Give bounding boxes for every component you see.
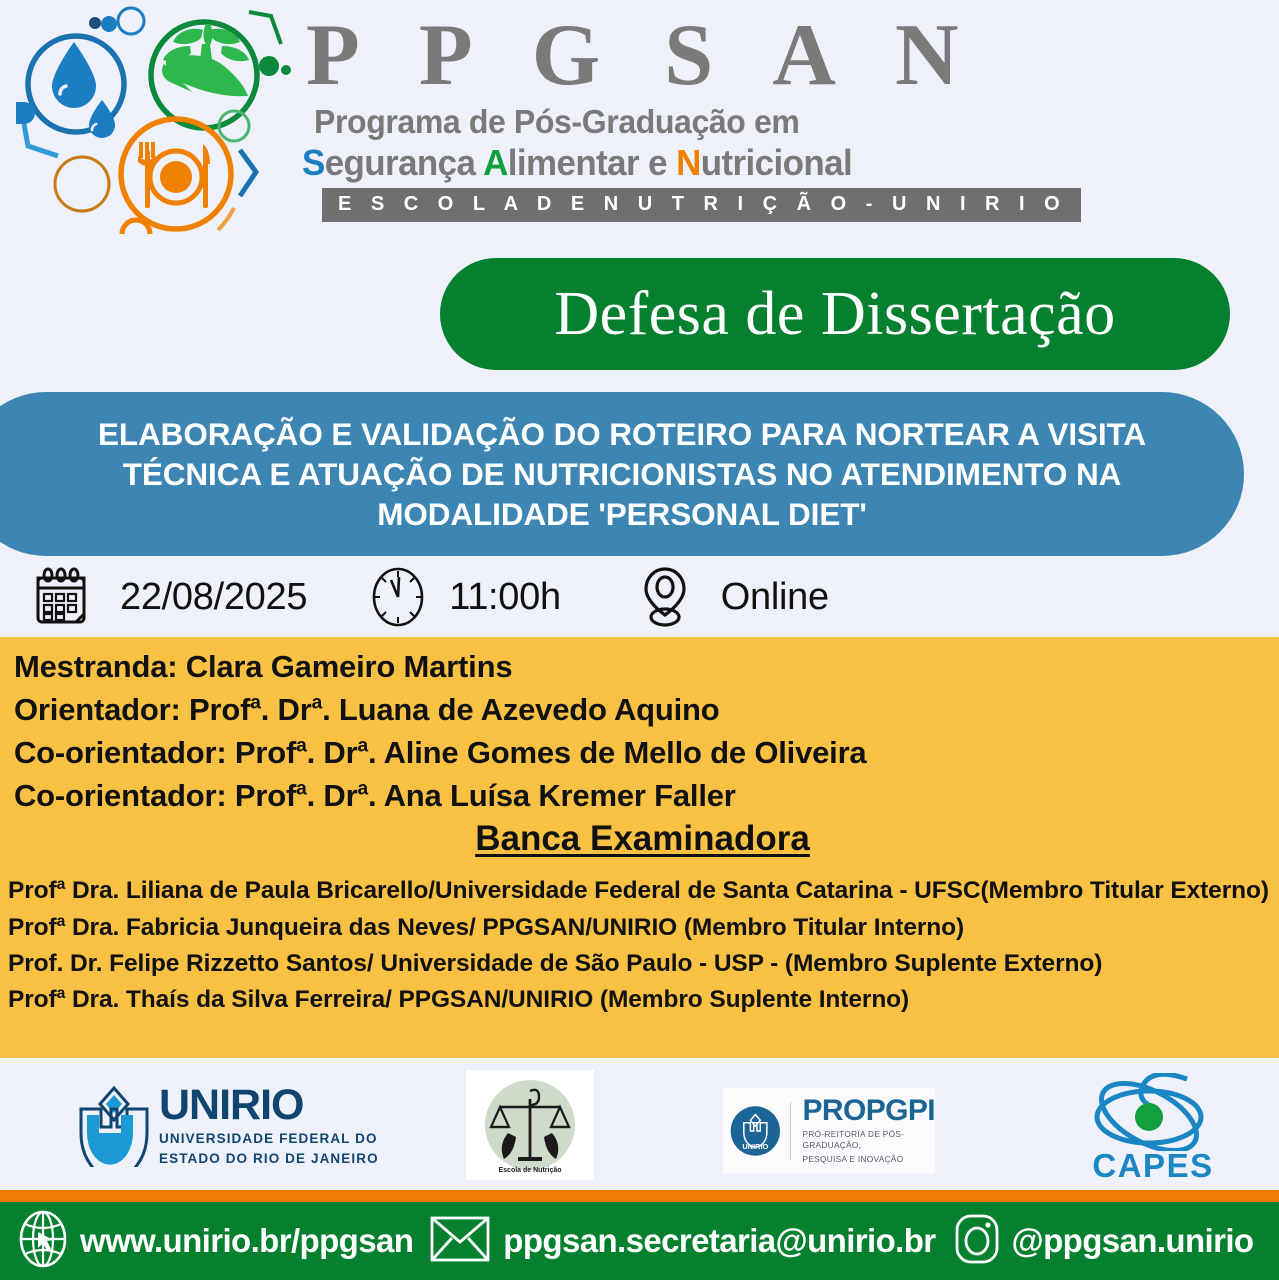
brand-utri-text: utricional: [701, 142, 852, 183]
event-type-label: Defesa de Dissertação: [554, 279, 1115, 350]
thesis-title: ELABORAÇÃO E VALIDAÇÃO DO ROTEIRO PARA N…: [52, 414, 1192, 534]
member-title-sup: a: [57, 876, 66, 893]
committee-member-row: Profa Dra. Fabricia Junqueira das Neves/…: [8, 910, 1271, 946]
event-date-value: 22/08/2025: [120, 576, 307, 619]
brand-acronym: P P G S A N: [306, 8, 860, 103]
cutlery-plate-icon: [138, 142, 210, 208]
brand-tagline-line2: Segurança Alimentar e Nutricional: [302, 142, 843, 184]
brand-tagline-line1: Programa de Pós-Graduação em: [314, 103, 844, 141]
poster-root: P P G S A N Programa de Pós-Graduação em…: [0, 0, 1279, 1280]
event-place-value: Online: [721, 576, 829, 619]
member-details: Dra. Thaís da Silva Ferreira/ PPGSAN/UNI…: [65, 986, 909, 1013]
ring-icon: [55, 157, 109, 211]
ring-icon: [118, 8, 144, 34]
unirio-subtitle-line2: ESTADO DO RIO DE JANEIRO: [159, 1150, 379, 1167]
capes-name: CAPES: [1092, 1147, 1213, 1185]
school-bar-label: E S C O L A D E N U T R I Ç Ã O - U N I …: [322, 188, 1081, 222]
propgpi-name: PROPGPI: [803, 1096, 936, 1126]
committee-heading: Banca Examinadora: [14, 819, 1271, 859]
food-water-plant-icon: [4, 2, 304, 247]
brand-lim-text: limentar e: [508, 142, 676, 183]
coorientador1-sup-a: a: [296, 736, 306, 757]
escola-seal-caption: Escola de Nutrição: [498, 1167, 561, 1174]
event-place-item: Online: [639, 565, 829, 629]
orientador-sup-a: a: [250, 693, 260, 714]
coorientador1-name: . Aline Gomes de Mello de Oliveira: [368, 735, 867, 770]
brand-egu-text: egurança: [325, 142, 483, 183]
event-date-item: 22/08/2025: [30, 566, 307, 628]
water-drop-small-icon: [89, 100, 115, 138]
member-title-sup: a: [57, 985, 66, 1002]
orange-divider: [0, 1190, 1279, 1202]
escola-seal-plate: Escola de Nutrição: [466, 1070, 594, 1180]
event-type-banner: Defesa de Dissertação: [440, 258, 1230, 370]
website-url: www.unirio.br/ppgsan: [80, 1222, 413, 1260]
coorientador2-name: . Ana Luísa Kremer Faller: [368, 778, 736, 813]
people-and-committee-block: Mestranda: Clara Gameiro Martins Orienta…: [0, 637, 1279, 1058]
instagram-icon: [952, 1211, 1002, 1272]
member-details: Dra. Liliana de Paula Bricarello/Univers…: [65, 877, 1269, 904]
member-title-prefix: Prof: [8, 914, 57, 941]
member-title-prefix: Prof: [8, 986, 57, 1013]
coorientador2-prefix: Co-orientador: Prof: [14, 778, 296, 813]
orientador-mid: . Dr: [261, 692, 312, 727]
envelope-icon: [429, 1214, 491, 1269]
unirio-name: UNIRIO: [159, 1084, 379, 1127]
coorientador2-sup-a2: a: [357, 779, 367, 800]
member-details: . Dr. Felipe Rizzetto Santos/ Universida…: [57, 950, 1103, 977]
contact-footer: www.unirio.br/ppgsan ppgsan.secretaria@u…: [0, 1202, 1279, 1280]
propgpi-logo: UNIRIO PROPGPI PRÓ-REITORIA DE PÓS-GRADU…: [723, 1088, 935, 1173]
globe-icon: [16, 1208, 70, 1275]
brand-a-letter: A: [483, 142, 508, 183]
committee-heading-label: Banca Examinadora: [475, 819, 810, 858]
unirio-logo: UNIRIO UNIVERSIDADE FEDERAL DO ESTADO DO…: [75, 1084, 379, 1168]
scales-caduceus-seal-icon: Escola de Nutrição: [478, 1073, 582, 1177]
email-contact[interactable]: ppgsan.secretaria@unirio.br: [429, 1214, 935, 1269]
capes-logo: CAPES: [1087, 1073, 1219, 1185]
orientador-sup-a2: a: [312, 693, 322, 714]
orientador-line: Orientador: Profa. Dra. Luana de Azevedo…: [14, 688, 1271, 731]
coorientador1-sup-a2: a: [357, 736, 367, 757]
committee-member-row: Profa Dra. Liliana de Paula Bricarello/U…: [8, 873, 1271, 909]
member-title-prefix: Prof: [8, 950, 57, 977]
event-time-value: 11:00h: [449, 576, 561, 619]
dot-icon: [259, 56, 279, 76]
escola-nutricao-logo: Escola de Nutrição: [466, 1070, 594, 1180]
dot-icon: [89, 17, 101, 29]
propgpi-badge-text: UNIRIO: [742, 1142, 768, 1151]
brand-text-block: P P G S A N Programa de Pós-Graduação em…: [300, 8, 860, 222]
unirio-mark-icon: [75, 1085, 153, 1167]
propgpi-wordmark: PROPGPI PRÓ-REITORIA DE PÓS-GRADUAÇÃO, P…: [803, 1096, 936, 1166]
coorientador2-sup-a: a: [296, 779, 306, 800]
unirio-badge-icon: UNIRIO: [729, 1099, 782, 1163]
clock-icon: [369, 566, 427, 628]
member-title-prefix: Prof: [8, 877, 57, 904]
coorientador2-line: Co-orientador: Profa. Dra. Ana Luísa Kre…: [14, 774, 1271, 817]
instagram-contact[interactable]: @ppgsan.unirio: [952, 1211, 1254, 1272]
coorientador2-mid: . Dr: [307, 778, 358, 813]
member-title-sup: a: [57, 912, 66, 929]
email-address: ppgsan.secretaria@unirio.br: [503, 1222, 935, 1260]
thesis-title-banner: ELABORAÇÃO E VALIDAÇÃO DO ROTEIRO PARA N…: [0, 392, 1244, 556]
brand-s-letter: S: [302, 142, 325, 183]
coorientador1-mid: . Dr: [307, 735, 358, 770]
water-drop-icon: [52, 42, 96, 108]
committee-member-row: Profa Dra. Thaís da Silva Ferreira/ PPGS…: [8, 982, 1271, 1018]
capes-orbit-icon: [1087, 1073, 1219, 1151]
location-pin-icon: [639, 565, 691, 629]
instagram-handle: @ppgsan.unirio: [1012, 1222, 1254, 1260]
event-time-item: 11:00h: [369, 566, 561, 628]
ppgsan-logo-graphic: [4, 2, 304, 247]
orientador-prefix: Orientador: Prof: [14, 692, 250, 727]
website-contact[interactable]: www.unirio.br/ppgsan: [16, 1208, 413, 1275]
member-details: Dra. Fabricia Junqueira das Neves/ PPGSA…: [65, 914, 964, 941]
calendar-icon: [30, 566, 92, 628]
propgpi-subtitle-line1: PRÓ-REITORIA DE PÓS-GRADUAÇÃO,: [803, 1129, 936, 1151]
poster-header: P P G S A N Programa de Pós-Graduação em…: [0, 0, 1279, 248]
unirio-wordmark: UNIRIO UNIVERSIDADE FEDERAL DO ESTADO DO…: [159, 1084, 379, 1168]
dot-icon: [281, 65, 291, 75]
propgpi-divider: [790, 1102, 791, 1160]
coorientador1-line: Co-orientador: Profa. Dra. Aline Gomes d…: [14, 731, 1271, 774]
propgpi-subtitle-line2: PESQUISA E INOVAÇÃO: [803, 1154, 936, 1165]
propgpi-plate: UNIRIO PROPGPI PRÓ-REITORIA DE PÓS-GRADU…: [723, 1088, 935, 1173]
event-meta-row: 22/08/2025: [0, 558, 1279, 636]
committee-member-row: Prof. Dr. Felipe Rizzetto Santos/ Univer…: [8, 946, 1271, 982]
orientador-name: . Luana de Azevedo Aquino: [322, 692, 719, 727]
mestranda-line: Mestranda: Clara Gameiro Martins: [14, 645, 1271, 688]
unirio-subtitle-line1: UNIVERSIDADE FEDERAL DO: [159, 1130, 379, 1147]
coorientador1-prefix: Co-orientador: Prof: [14, 735, 296, 770]
brand-n-letter: N: [676, 142, 701, 183]
dot-icon: [101, 16, 117, 32]
